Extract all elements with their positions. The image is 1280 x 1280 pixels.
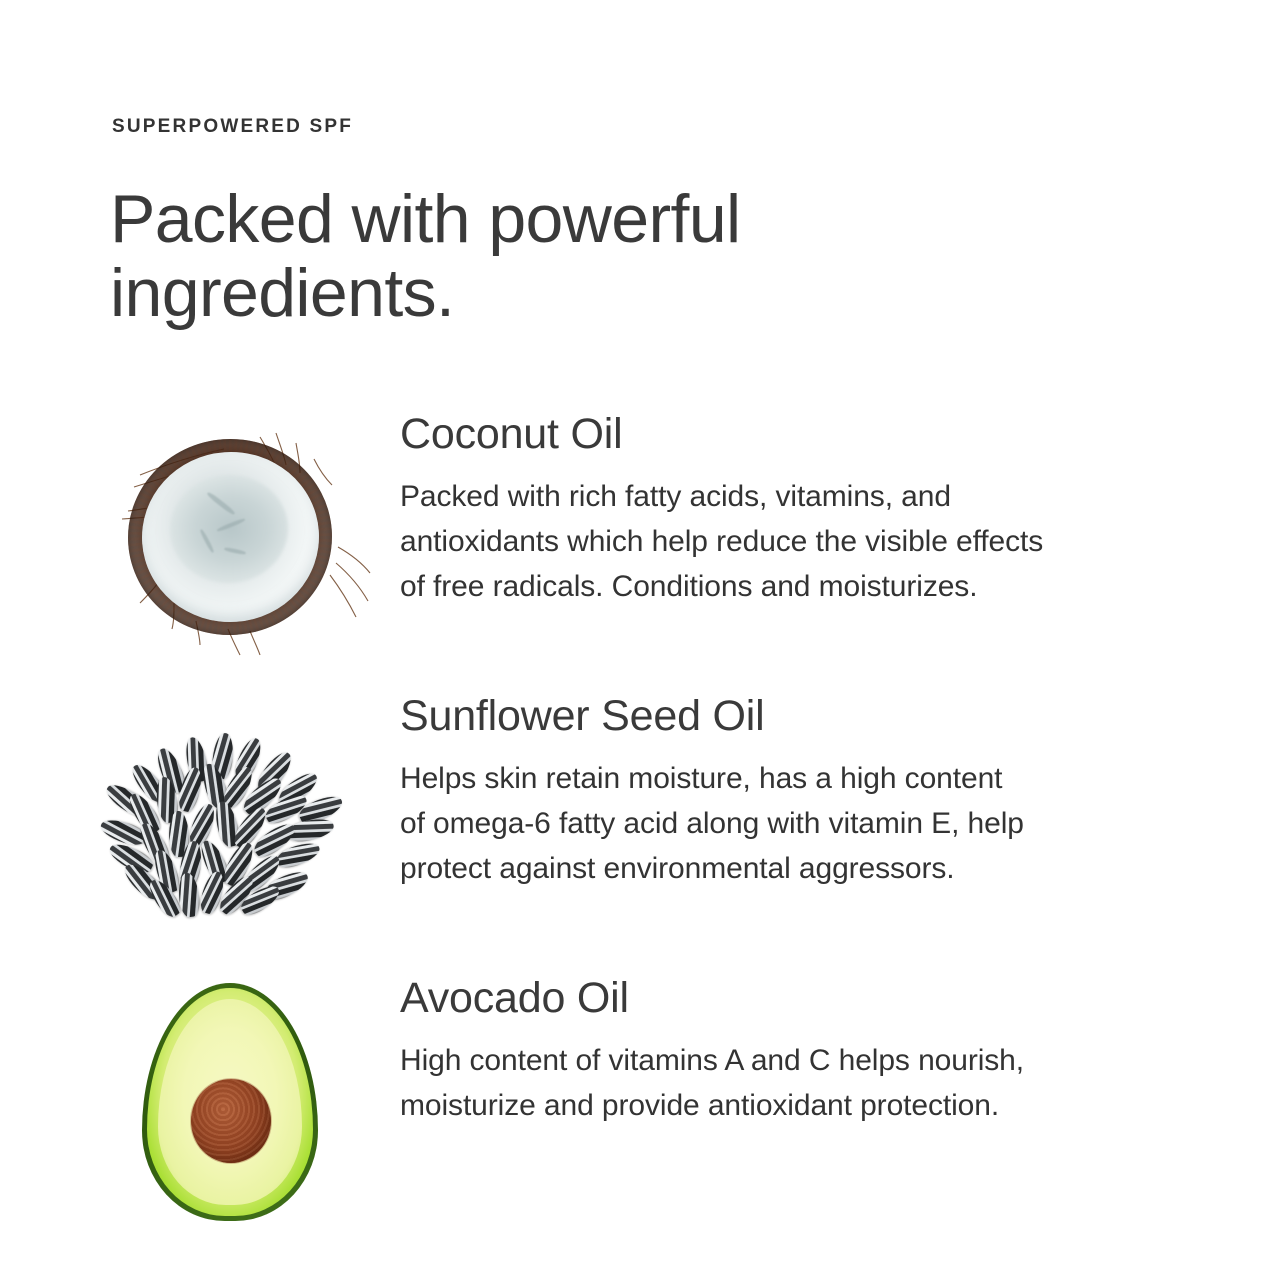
page-title-line-1: Packed with powerful: [110, 182, 930, 256]
ingredient-text-avocado-oil: Avocado Oil High content of vitamins A a…: [400, 972, 1236, 1128]
page-title-line-2: ingredients.: [110, 256, 930, 330]
ingredient-title: Avocado Oil: [400, 972, 1236, 1024]
ingredient-title: Coconut Oil: [400, 408, 1236, 460]
description-line: antioxidants which help reduce the visib…: [400, 519, 1236, 564]
page-title: Packed with powerful ingredients.: [110, 182, 930, 330]
ingredients-panel: SUPERPOWERED SPF Packed with powerful in…: [0, 0, 1280, 1280]
ingredient-description: Packed with rich fatty acids, vitamins, …: [400, 474, 1236, 609]
sunflower-seeds-image: [80, 690, 380, 950]
coconut-artwork: [112, 431, 348, 645]
ingredient-title: Sunflower Seed Oil: [400, 690, 1236, 742]
avocado-pit: [191, 1079, 271, 1163]
description-line: moisturize and provide antioxidant prote…: [400, 1083, 1236, 1128]
description-line: of omega-6 fatty acid along with vitamin…: [400, 801, 1236, 846]
ingredient-description: Helps skin retain moisture, has a high c…: [400, 756, 1236, 891]
avocado-artwork: [142, 983, 318, 1221]
description-line: of free radicals. Conditions and moistur…: [400, 564, 1236, 609]
ingredient-item-avocado-oil: Avocado Oil High content of vitamins A a…: [0, 972, 1280, 1262]
coconut-half-image: [80, 408, 380, 668]
eyebrow-label: SUPERPOWERED SPF: [112, 116, 353, 138]
description-line: protect against environmental aggressors…: [400, 846, 1236, 891]
description-line: High content of vitamins A and C helps n…: [400, 1038, 1236, 1083]
ingredient-description: High content of vitamins A and C helps n…: [400, 1038, 1236, 1128]
ingredient-item-coconut-oil: Coconut Oil Packed with rich fatty acids…: [0, 408, 1280, 690]
ingredient-list: Coconut Oil Packed with rich fatty acids…: [0, 408, 1280, 1262]
ingredient-text-coconut-oil: Coconut Oil Packed with rich fatty acids…: [400, 408, 1236, 609]
description-line: Packed with rich fatty acids, vitamins, …: [400, 474, 1236, 519]
ingredient-text-sunflower-seed-oil: Sunflower Seed Oil Helps skin retain moi…: [400, 690, 1236, 891]
avocado-half-image: [80, 972, 380, 1232]
ingredient-item-sunflower-seed-oil: Sunflower Seed Oil Helps skin retain moi…: [0, 690, 1280, 972]
sunflower-seeds-artwork: [99, 725, 361, 915]
description-line: Helps skin retain moisture, has a high c…: [400, 756, 1236, 801]
